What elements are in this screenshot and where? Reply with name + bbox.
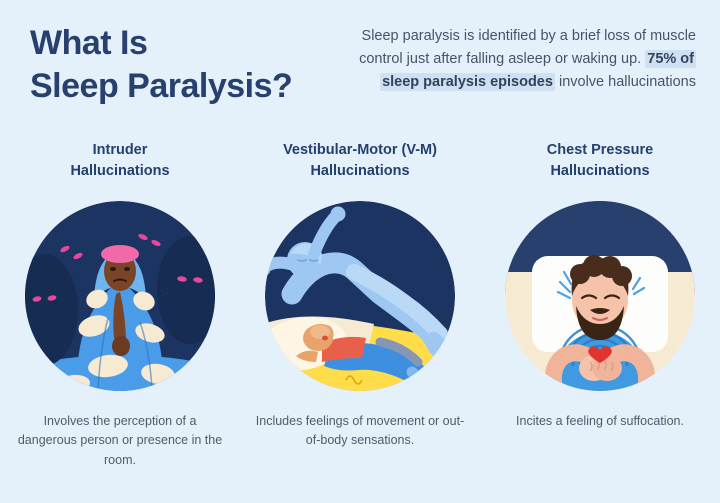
column-vestibular-motor: Vestibular-Motor (V-M) Hallucinations — [240, 140, 480, 470]
column-heading-line-1: Chest Pressure — [490, 140, 710, 161]
vestibular-motor-hallucination-illustration — [260, 196, 460, 396]
column-heading-line-2: Hallucinations — [250, 161, 470, 182]
intro-text-part-2: involve hallucinations — [555, 74, 696, 90]
column-heading-intruder: Intruder Hallucinations — [10, 140, 230, 184]
page-title-line-1: What Is — [30, 22, 360, 65]
intruder-hallucination-illustration — [20, 196, 220, 396]
column-heading-line-2: Hallucinations — [490, 161, 710, 182]
column-heading-line-1: Intruder — [10, 140, 230, 161]
chest-pressure-hallucination-illustration — [500, 196, 700, 396]
sleep-paralysis-infographic: What Is Sleep Paralysis? Sleep paralysis… — [0, 0, 720, 503]
intro-paragraph: Sleep paralysis is identified by a brief… — [321, 25, 696, 94]
column-caption-vestibular-motor: Includes feelings of movement or out-of-… — [253, 412, 468, 451]
column-caption-intruder: Involves the perception of a dangerous p… — [13, 412, 228, 470]
column-chest-pressure: Chest Pressure Hallucinations — [480, 140, 720, 470]
column-caption-chest-pressure: Incites a feeling of suffocation. — [493, 412, 708, 431]
column-heading-line-1: Vestibular-Motor (V-M) — [250, 140, 470, 161]
hallucination-type-columns: Intruder Hallucinations — [0, 140, 720, 470]
column-heading-chest-pressure: Chest Pressure Hallucinations — [490, 140, 710, 184]
page-title: What Is Sleep Paralysis? — [30, 22, 360, 107]
infographic-header: What Is Sleep Paralysis? Sleep paralysis… — [0, 0, 720, 130]
column-intruder: Intruder Hallucinations — [0, 140, 240, 470]
page-title-line-2: Sleep Paralysis? — [30, 65, 360, 108]
column-heading-line-2: Hallucinations — [10, 161, 230, 182]
column-heading-vestibular-motor: Vestibular-Motor (V-M) Hallucinations — [250, 140, 470, 184]
